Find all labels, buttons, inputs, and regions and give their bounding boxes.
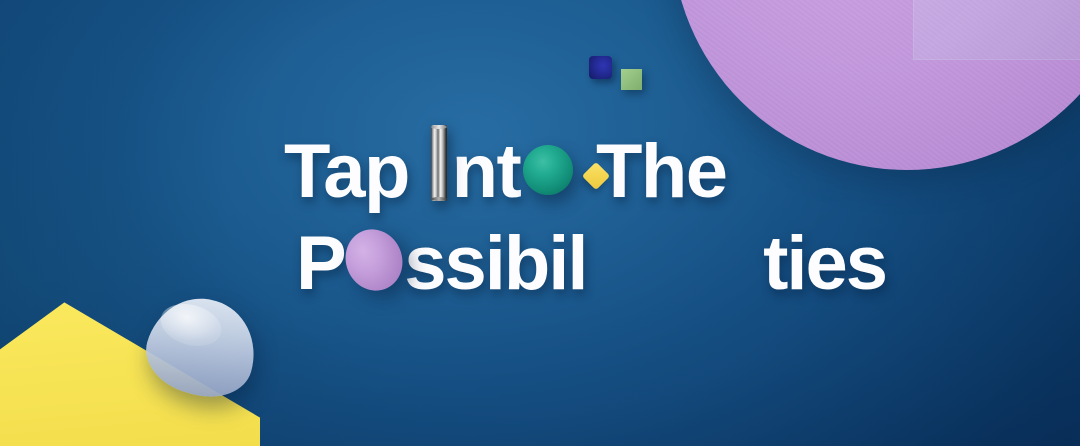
headline-text-tap: Tap [284, 134, 429, 210]
headline-line-1: Tap nt The [284, 121, 727, 210]
headline-group: Tap nt The P ssibil i ties [0, 0, 1080, 446]
purple-disc-icon [337, 221, 412, 299]
metal-cylinder-icon [431, 125, 447, 201]
headline-dotted-i-wrap: i [587, 226, 764, 446]
headline-text-nt: nt [452, 134, 521, 210]
teal-sphere-icon [523, 145, 573, 195]
headline-line-2: P ssibil i ties [296, 226, 886, 446]
headline-text-p: P [296, 226, 345, 302]
headline-text-ties: ties [763, 226, 886, 302]
hero-banner: Tap nt The P ssibil i ties [0, 0, 1080, 446]
headline-text-ssibil: ssibil [404, 226, 586, 302]
